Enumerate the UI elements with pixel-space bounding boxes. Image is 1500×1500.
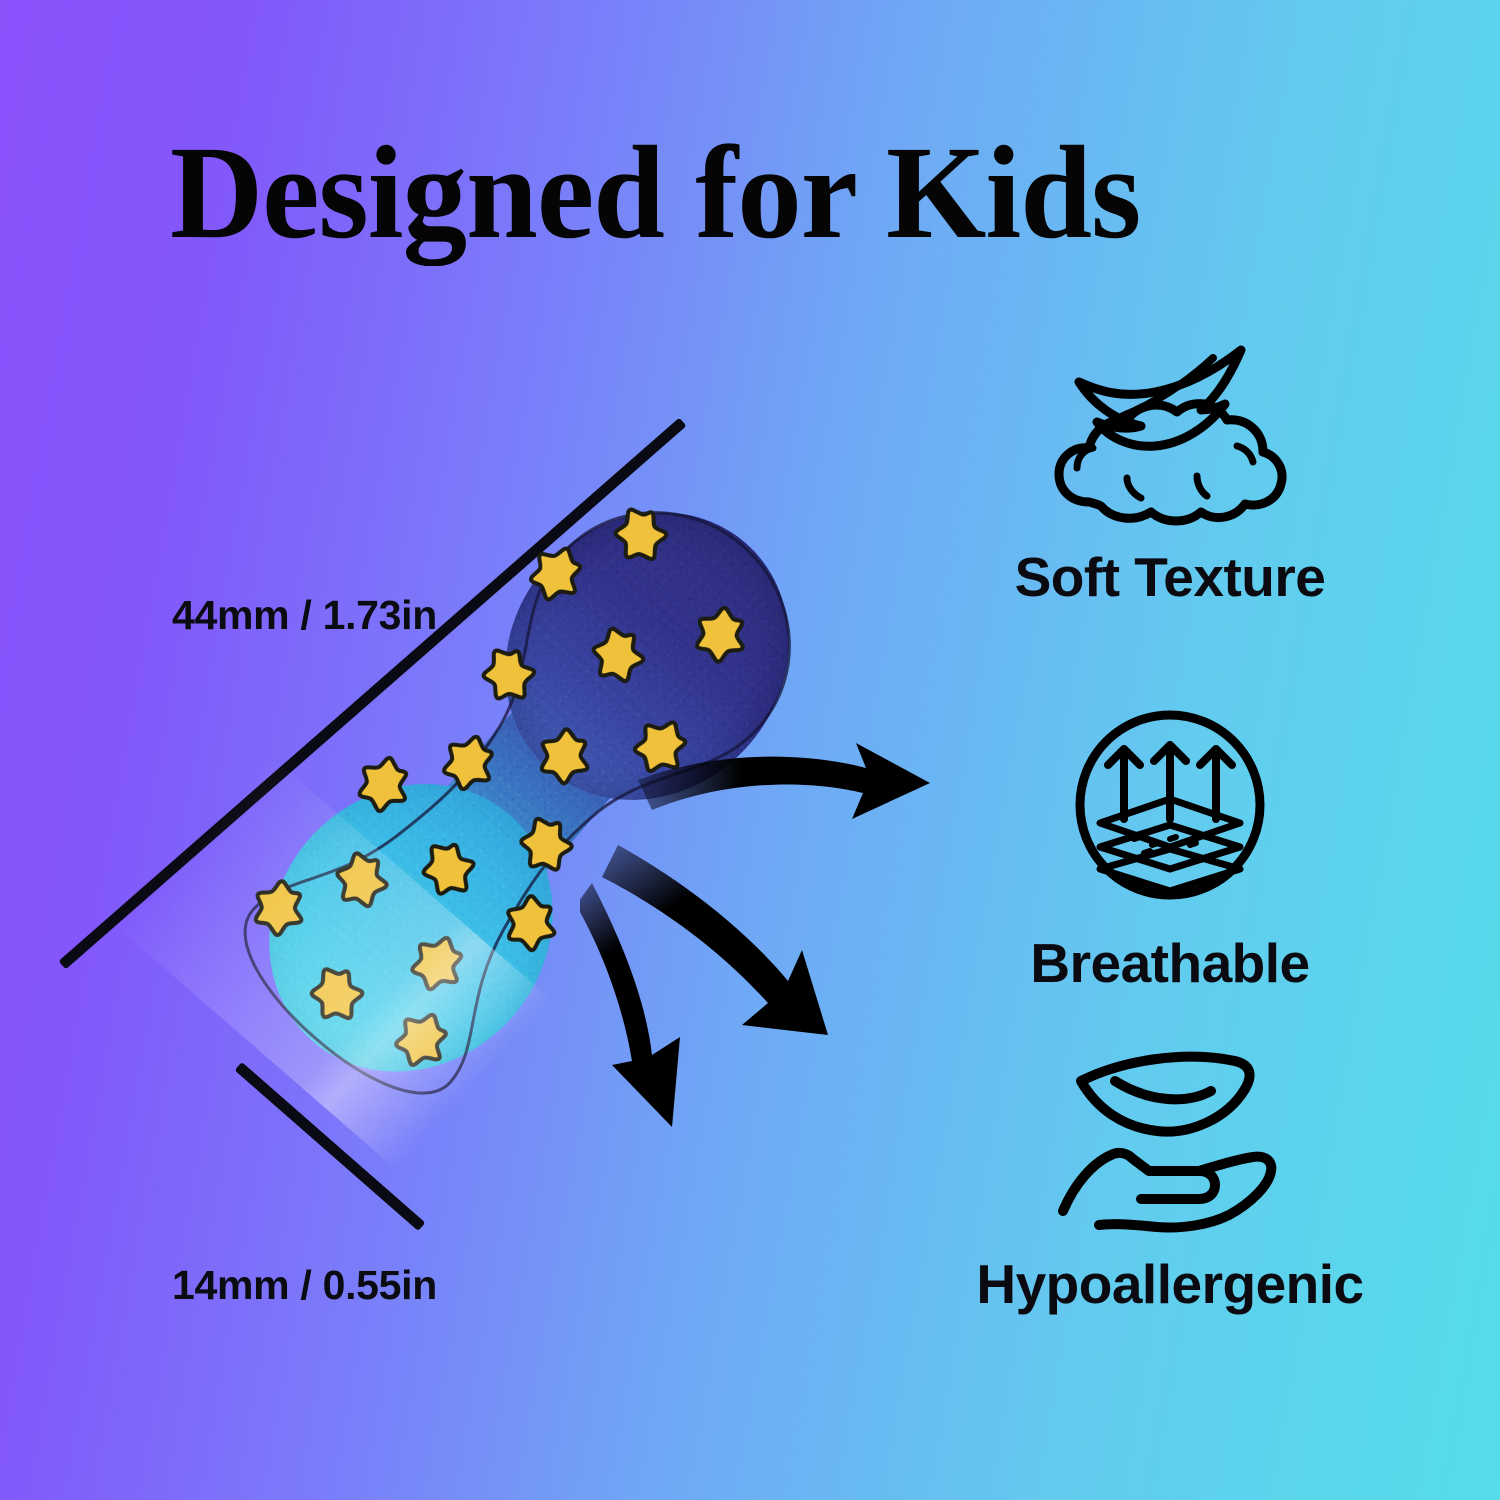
feature-soft-texture: Soft Texture — [890, 340, 1450, 605]
feature-breathable: Breathable — [890, 700, 1450, 991]
arrow-down — [580, 883, 680, 1127]
feature-label-breathable: Breathable — [890, 936, 1450, 991]
features-list: Soft Texture Breathab — [890, 340, 1450, 1400]
product-illustration: 44mm / 1.73in 14mm / 0.55in — [0, 0, 1000, 1500]
feather-over-cloud-icon — [890, 340, 1450, 540]
feature-hypoallergenic: Hypoallergenic — [890, 1040, 1450, 1312]
leaf-over-hand-icon — [890, 1040, 1450, 1235]
feature-label-hypoallergenic: Hypoallergenic — [890, 1257, 1450, 1312]
layers-airflow-circle-icon — [890, 700, 1450, 910]
width-dimension-label: 14mm / 0.55in — [172, 1262, 437, 1309]
star-icon — [417, 836, 483, 902]
feature-label-soft-texture: Soft Texture — [890, 550, 1450, 605]
arrow-right — [638, 743, 930, 819]
